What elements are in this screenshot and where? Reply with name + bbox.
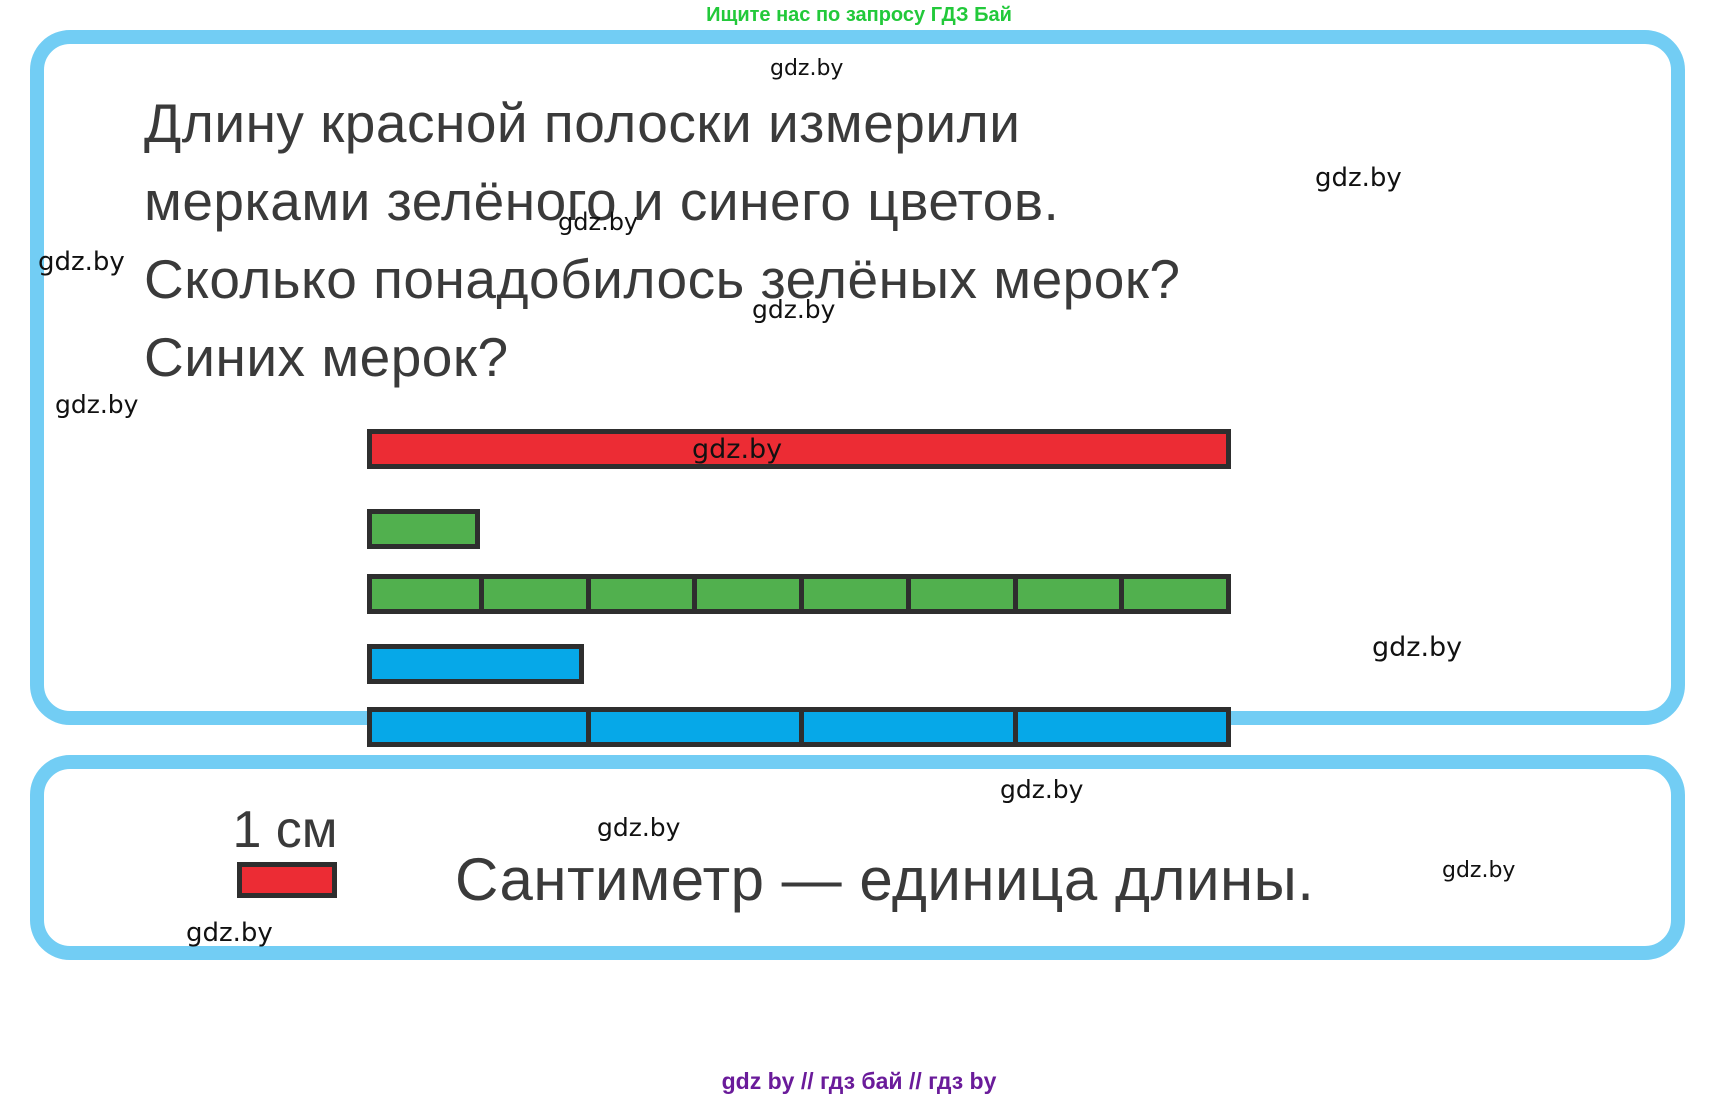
green-segment	[1119, 579, 1226, 609]
green-segment	[372, 579, 479, 609]
red-strip-segment	[372, 434, 1226, 464]
site-footer: gdz by // гдз бай // гдз by	[0, 1068, 1718, 1095]
green-segment	[586, 579, 693, 609]
green-segment	[799, 579, 906, 609]
problem-line-1: Длину красной полоски измерили	[144, 84, 1624, 162]
green-unit-segment	[372, 514, 475, 544]
measurement-diagram	[367, 429, 1237, 709]
green-measures-bar	[367, 574, 1231, 614]
site-promo-header: Ищите нас по запросу ГДЗ Бай	[0, 0, 1718, 30]
definition-text: Сантиметр — единица длины.	[455, 845, 1314, 914]
blue-segment	[799, 712, 1013, 742]
blue-unit-measure-bar	[367, 644, 584, 684]
unit-label: 1 см	[195, 800, 375, 860]
problem-line-4: Синих мерок?	[144, 318, 1624, 396]
watermark: gdz.by	[1315, 163, 1402, 193]
blue-measures-bar	[367, 707, 1231, 747]
red-strip-bar	[367, 429, 1231, 469]
green-segment	[692, 579, 799, 609]
watermark: gdz.by	[597, 813, 680, 842]
blue-segment	[1013, 712, 1227, 742]
blue-segment	[372, 712, 586, 742]
green-segment	[1013, 579, 1120, 609]
watermark: gdz.by	[692, 434, 782, 465]
green-segment	[906, 579, 1013, 609]
problem-card: Длину красной полоски измерили мерками з…	[30, 30, 1685, 725]
green-unit-measure-bar	[367, 509, 480, 549]
watermark: gdz.by	[1442, 858, 1515, 883]
watermark: gdz.by	[752, 295, 835, 324]
watermark: gdz.by	[38, 247, 125, 277]
watermark: gdz.by	[770, 56, 843, 81]
blue-segment	[586, 712, 800, 742]
problem-line-3: Сколько понадобилось зелёных мерок?	[144, 240, 1624, 318]
watermark: gdz.by	[1000, 775, 1083, 804]
green-segment	[479, 579, 586, 609]
watermark: gdz.by	[186, 918, 273, 948]
watermark: gdz.by	[55, 390, 138, 419]
problem-statement: Длину красной полоски измерили мерками з…	[144, 84, 1624, 396]
problem-line-2: мерками зелёного и синего цветов.	[144, 162, 1624, 240]
watermark: gdz.by	[558, 208, 638, 236]
watermark: gdz.by	[1372, 632, 1462, 663]
one-centimeter-swatch	[237, 862, 337, 898]
blue-unit-segment	[372, 649, 579, 679]
